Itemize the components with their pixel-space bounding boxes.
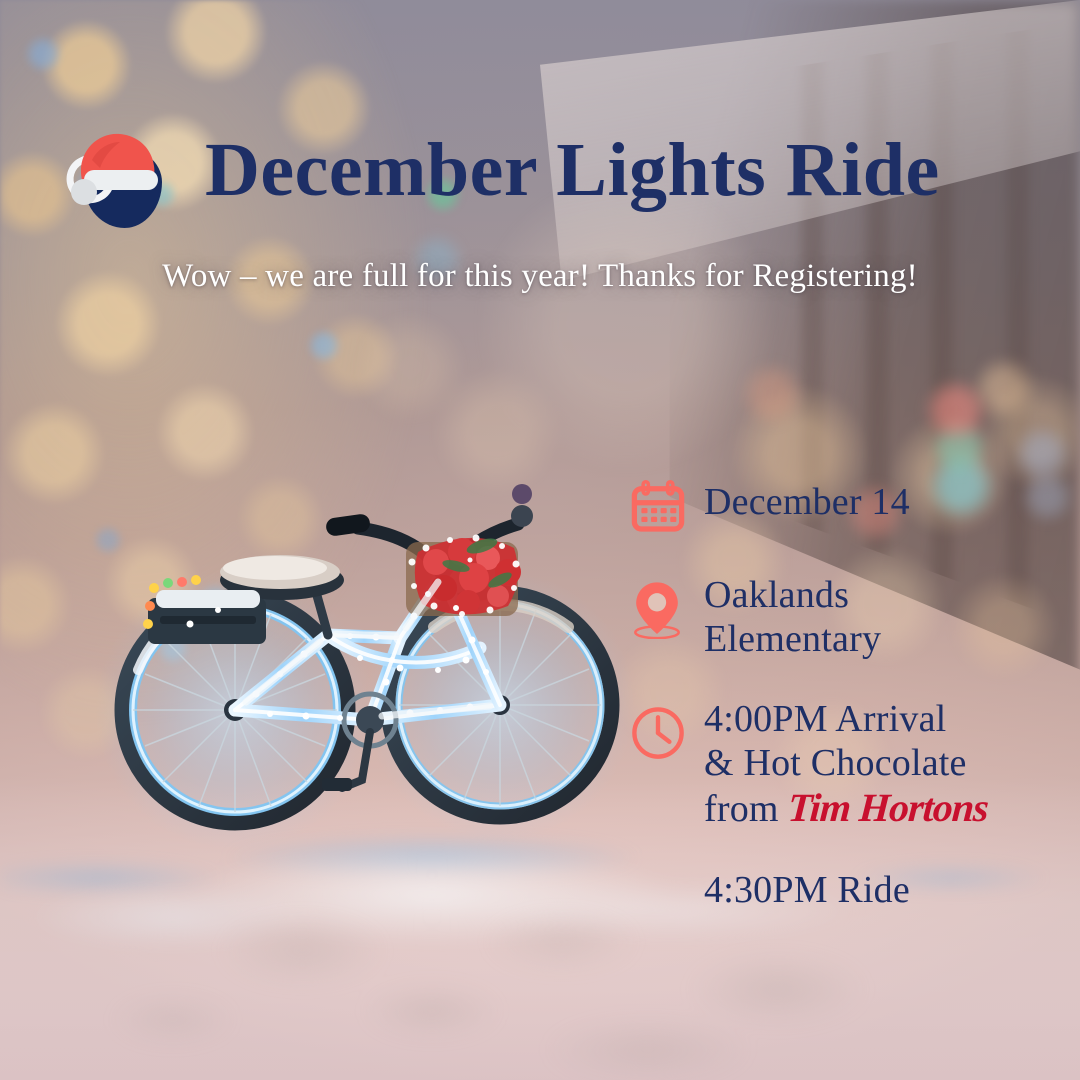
detail-row-time: 4:00PM Arrival & Hot Chocolate from Tim … bbox=[630, 695, 1060, 832]
location-line-1: Oaklands bbox=[704, 573, 881, 617]
time-line-3: from Tim Hortons bbox=[704, 785, 988, 831]
detail-row-location: Oaklands Elementary bbox=[630, 571, 1060, 661]
time-text: 4:00PM Arrival & Hot Chocolate from Tim … bbox=[704, 695, 988, 832]
calendar-icon bbox=[630, 478, 704, 541]
christmas-lights-bicycle-image bbox=[70, 420, 650, 860]
location-text: Oaklands Elementary bbox=[704, 571, 881, 661]
time-line-1: 4:00PM Arrival bbox=[704, 697, 988, 741]
location-line-2: Elementary bbox=[704, 617, 881, 661]
location-pin-icon bbox=[630, 571, 704, 644]
brand-logo bbox=[62, 118, 180, 230]
time-line-2: & Hot Chocolate bbox=[704, 741, 988, 785]
event-details: December 14 Oaklands Elementary bbox=[630, 478, 1060, 912]
time-line-3-prefix: from bbox=[704, 788, 788, 830]
subtitle-message: Wow – we are full for this year! Thanks … bbox=[0, 258, 1080, 295]
poster-canvas: December Lights Ride Wow – we are full f… bbox=[0, 0, 1080, 1080]
clock-icon bbox=[630, 695, 704, 766]
page-title: December Lights Ride bbox=[205, 132, 940, 208]
detail-row-date: December 14 bbox=[630, 478, 1060, 541]
santa-hat-icon bbox=[62, 118, 180, 230]
date-line-1: December 14 bbox=[704, 480, 910, 524]
tim-hortons-logo: Tim Hortons bbox=[787, 785, 990, 831]
date-text: December 14 bbox=[704, 478, 910, 524]
ride-start-time: 4:30PM Ride bbox=[704, 868, 1060, 912]
